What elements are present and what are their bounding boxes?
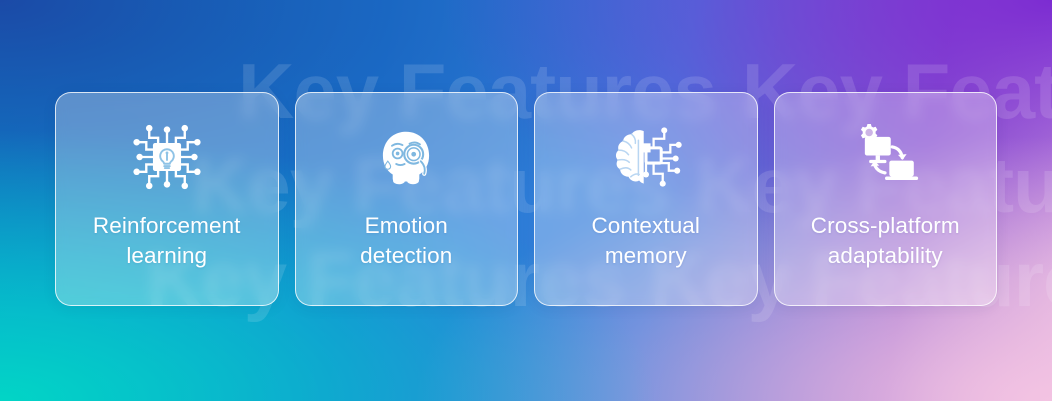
monitor-laptop-sync-icon xyxy=(843,117,927,197)
feature-cards-graphic: Key FeaturesKey FeaturesKey Features Key… xyxy=(0,0,1052,401)
feature-card-cross-platform-adaptability[interactable]: Cross-platform adaptability xyxy=(774,92,998,306)
feature-card-label-line-2: memory xyxy=(544,241,748,271)
feature-card-label-line-1: Contextual xyxy=(544,211,748,241)
feature-card-label-line-1: Emotion xyxy=(304,211,508,241)
emoji-magnifier-icon xyxy=(364,117,448,197)
chip-lightbulb-icon xyxy=(125,117,209,197)
feature-card-emotion-detection[interactable]: Emotion detection xyxy=(295,92,519,306)
feature-card-contextual-memory[interactable]: Contextual memory xyxy=(534,92,758,306)
feature-card-label: Reinforcement learning xyxy=(65,211,269,271)
feature-card-label-line-1: Cross-platform xyxy=(783,211,987,241)
feature-card-label-line-2: learning xyxy=(65,241,269,271)
feature-card-label-line-1: Reinforcement xyxy=(65,211,269,241)
feature-card-list: Reinforcement learning xyxy=(55,92,997,306)
feature-card-reinforcement-learning[interactable]: Reinforcement learning xyxy=(55,92,279,306)
feature-card-label-line-2: detection xyxy=(304,241,508,271)
feature-card-label-line-2: adaptability xyxy=(783,241,987,271)
feature-card-label: Emotion detection xyxy=(304,211,508,271)
brain-circuit-icon xyxy=(604,117,688,197)
feature-card-label: Contextual memory xyxy=(544,211,748,271)
feature-card-label: Cross-platform adaptability xyxy=(783,211,987,271)
